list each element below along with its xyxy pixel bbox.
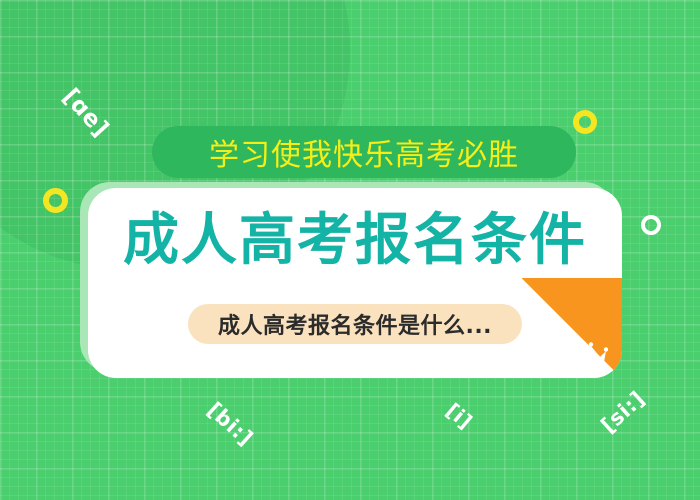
subtitle-text: 成人高考报名条件是什么...	[218, 308, 492, 340]
page-title: 成人高考报名条件	[88, 210, 622, 272]
slogan-banner: 学习使我快乐高考必胜	[152, 126, 576, 178]
ring-yellow-right	[573, 110, 597, 134]
slogan-banner-text: 学习使我快乐高考必胜	[209, 130, 519, 174]
title-card: 成人高考报名条件 成人高考报名条件是什么...	[88, 188, 622, 378]
poster-canvas: [ɑe] [bi:] [i] [si:] 学习使我快乐高考必胜 成人高考报名条件…	[0, 0, 700, 500]
subtitle-pill: 成人高考报名条件是什么...	[188, 304, 522, 344]
ring-yellow-left	[43, 188, 68, 213]
crown-icon	[574, 342, 608, 368]
ring-white-right	[641, 215, 661, 235]
